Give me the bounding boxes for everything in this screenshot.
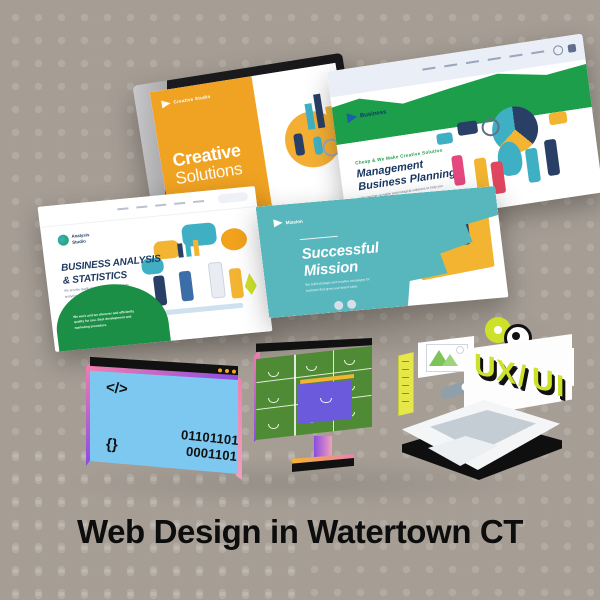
menu-icon[interactable] xyxy=(567,44,576,53)
person-figure xyxy=(229,268,245,299)
filing-cabinet[interactable] xyxy=(254,338,384,478)
code-tag-icon: </> xyxy=(105,379,128,398)
business-analysis-statistics-card[interactable]: Analysis Studio BUSINESS ANALYSIS & STAT… xyxy=(38,186,273,352)
logo-mark-icon xyxy=(57,234,69,246)
traffic-light-dot[interactable] xyxy=(218,368,222,372)
bar-chart-bar xyxy=(177,243,184,257)
search-pill[interactable] xyxy=(217,192,248,204)
nav-dash xyxy=(488,57,501,61)
ux-letter: I xyxy=(556,371,564,403)
binary-code-text: 01101101 0001101 xyxy=(178,427,239,465)
logo-triangle-icon xyxy=(161,99,171,108)
chat-bubble xyxy=(548,111,567,126)
nav-dash xyxy=(422,67,435,71)
ux-letter: / xyxy=(518,361,526,393)
mountain-icon xyxy=(442,354,458,366)
person-figure xyxy=(208,262,226,299)
ux-letter: X xyxy=(496,356,516,390)
page-title: Web Design in Watertown CT xyxy=(0,513,600,551)
footer-dot xyxy=(334,301,344,311)
nav-dash xyxy=(444,63,457,67)
traffic-light-dot[interactable] xyxy=(232,369,236,373)
nav-icons[interactable] xyxy=(553,43,577,56)
drawer-handle[interactable] xyxy=(268,372,279,377)
white-card-logo: Analysis Studio xyxy=(57,232,90,246)
ruler-toolbar[interactable] xyxy=(398,352,414,416)
successful-mission-card[interactable]: Mission Successful Mission We build stra… xyxy=(256,186,509,318)
search-icon[interactable] xyxy=(553,45,564,56)
footer-dot xyxy=(347,299,357,309)
ux-ui-laptop[interactable]: U X / U I xyxy=(392,318,582,486)
teal-card-title: Successful Mission xyxy=(301,240,382,280)
chat-bubble xyxy=(457,120,478,136)
nav-dash xyxy=(174,202,185,205)
teal-title-line2: Mission xyxy=(303,258,359,280)
plant-graphic xyxy=(243,272,258,295)
person-figure xyxy=(451,155,466,186)
logo-triangle-icon xyxy=(347,112,358,123)
nav-dash xyxy=(193,200,204,203)
person-figure xyxy=(525,148,541,183)
drawer-handle[interactable] xyxy=(344,360,355,365)
drawer-divider xyxy=(294,352,295,438)
poster-canvas: Creative Studio Creative Solutions Right… xyxy=(0,0,600,600)
drawer-handle[interactable] xyxy=(268,398,279,403)
drawer-handle[interactable] xyxy=(306,366,317,371)
nav-dash xyxy=(155,204,166,207)
nav-dash xyxy=(531,50,544,54)
logo-triangle-icon xyxy=(273,219,283,228)
gear-icon xyxy=(220,227,249,251)
sun-icon xyxy=(456,346,464,354)
nav-dash xyxy=(117,207,128,210)
nav-dash xyxy=(466,60,479,64)
white-card-logo-text: Analysis Studio xyxy=(71,232,90,245)
teal-card-footer-dots xyxy=(334,299,357,310)
curly-brace-icon: {} xyxy=(105,436,118,454)
person-figure xyxy=(179,271,195,302)
green-card-logo-text: Business xyxy=(360,109,387,119)
nav-dash xyxy=(136,205,147,208)
nav-dash xyxy=(509,54,522,58)
code-editor-window[interactable]: </> {} 01101101 0001101 xyxy=(86,356,246,478)
chat-bubble xyxy=(436,132,453,145)
table-graphic xyxy=(165,303,243,315)
person-figure xyxy=(544,139,561,176)
drawer-handle[interactable] xyxy=(268,424,279,429)
teal-card-logo-text: Mission xyxy=(285,218,303,224)
ux-letter: U xyxy=(474,350,496,385)
nav-dashes[interactable] xyxy=(117,200,204,210)
traffic-light-dot[interactable] xyxy=(225,369,229,373)
ux-letter: U xyxy=(532,364,554,399)
